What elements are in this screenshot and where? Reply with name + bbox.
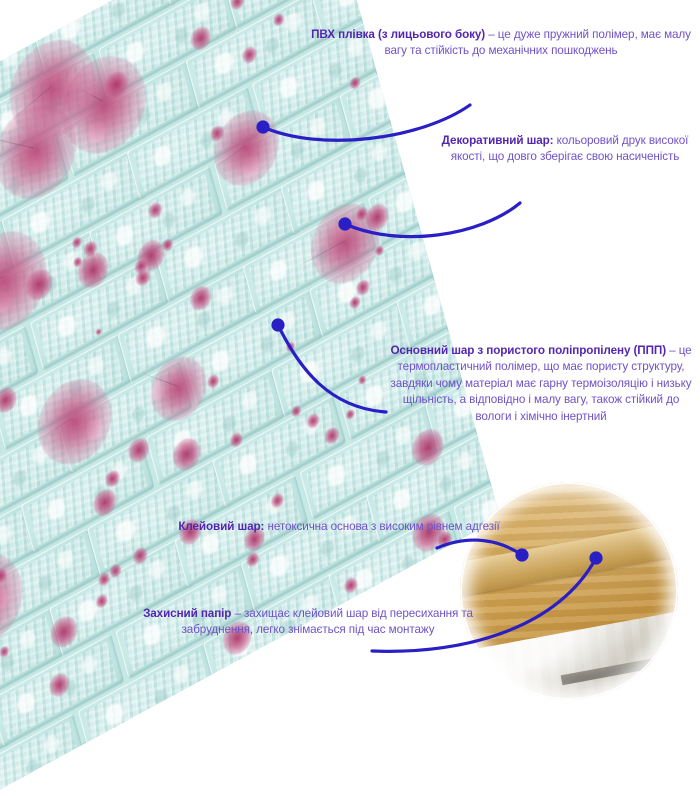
leader-line-ppp bbox=[278, 325, 386, 412]
annotation-pvc-film-title: ПВХ плівка (з лицьового боку) bbox=[311, 28, 485, 41]
infographic-canvas: ПВХ плівка (з лицьового боку) – це дуже … bbox=[0, 0, 700, 700]
annotation-polypropylene-core: Основний шар з пористого поліпропілену (… bbox=[384, 343, 698, 425]
annotation-adhesive-layer-title: Клейовий шар: bbox=[178, 520, 264, 533]
leader-dot-decor bbox=[338, 217, 351, 230]
annotation-decorative-layer-title: Декоративний шар: bbox=[442, 134, 554, 147]
leader-dot-glue bbox=[515, 548, 528, 561]
annotation-pvc-film: ПВХ плівка (з лицьового боку) – це дуже … bbox=[306, 27, 696, 60]
annotation-polypropylene-core-title: Основний шар з пористого поліпропілену (… bbox=[390, 344, 666, 357]
annotation-protective-paper-title: Захисний папір bbox=[143, 607, 231, 620]
annotation-adhesive-layer: Клейовий шар: нетоксична основа з високи… bbox=[176, 519, 502, 535]
leader-dot-pvc bbox=[256, 120, 269, 133]
leader-line-decor bbox=[345, 203, 520, 237]
annotation-adhesive-layer-body: нетоксична основа з високим рівнем адгез… bbox=[264, 520, 499, 533]
leader-dot-paper bbox=[589, 551, 602, 564]
leader-dot-ppp bbox=[271, 318, 284, 331]
annotation-protective-paper: Захисний папір – захищає клейовий шар ві… bbox=[126, 606, 490, 639]
annotation-decorative-layer: Декоративний шар: кольоровий друк високо… bbox=[432, 133, 698, 166]
leader-line-glue bbox=[437, 540, 522, 555]
